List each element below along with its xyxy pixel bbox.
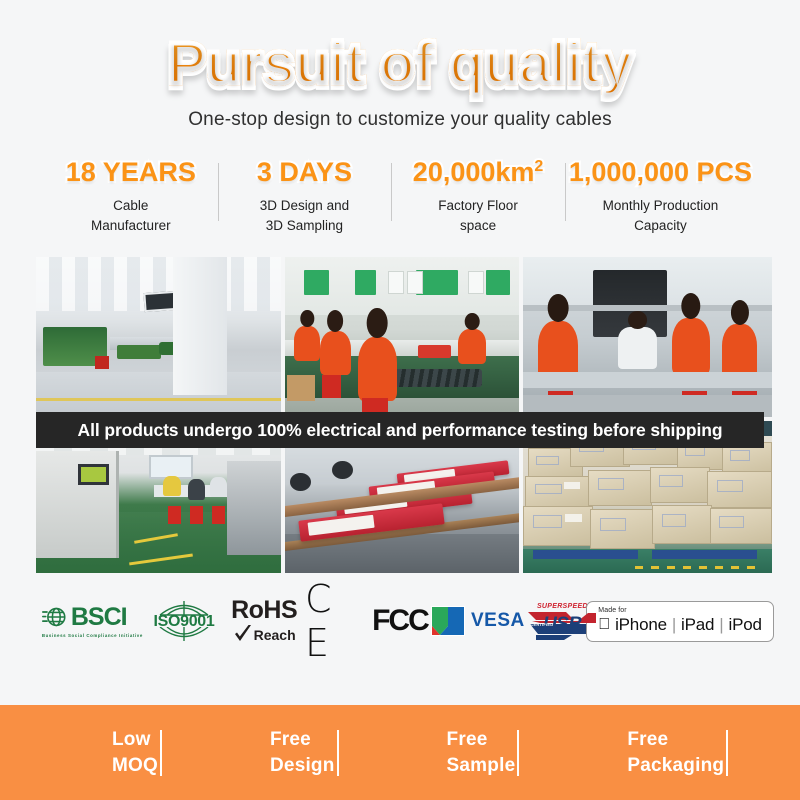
carton-marking — [536, 456, 558, 466]
bsci-logo: BSCI Business Social Compliance Initiati… — [42, 604, 143, 638]
worker-figure — [188, 479, 205, 500]
stat-label: 3D Design and 3D Sampling — [222, 196, 388, 235]
usb-superspeed-label: SUPERSPEED — [537, 603, 588, 610]
infographic-page: Pursuit of quality Pursuit of quality On… — [0, 0, 800, 800]
stat-label: Factory Floor space — [395, 196, 561, 235]
notice-paper — [468, 271, 484, 293]
mfi-badge: Made for  iPhone | iPad | iPod — [586, 601, 773, 642]
carton-shape — [650, 467, 710, 503]
cert-made-for-apple: Made for  iPhone | iPad | iPod — [600, 593, 760, 649]
floor-stripe — [36, 398, 281, 401]
carton-marking — [730, 450, 750, 461]
service-label-line2: Design — [270, 753, 335, 779]
stat-label: Monthly Production Capacity — [569, 196, 752, 235]
worker-figure-white — [618, 327, 658, 369]
title-wrap: Pursuit of quality Pursuit of quality — [168, 34, 633, 95]
cert-rohs: RoHS Reach — [223, 593, 305, 649]
machine-knob — [290, 473, 311, 491]
plant-shape-2 — [159, 342, 188, 355]
mfi-separator: | — [672, 615, 676, 635]
cert-fcc: FCC — [369, 593, 431, 649]
floor-shape — [36, 372, 281, 417]
iso-logo: ISO9001 — [153, 599, 214, 643]
fcc-label: FCC — [372, 604, 428, 638]
vesa-mark-icon — [431, 606, 465, 636]
stat-label-line2: space — [395, 216, 561, 236]
worker-figure — [672, 318, 709, 376]
globe-icon — [42, 604, 68, 630]
stat-label-line1: Factory Floor — [395, 196, 561, 216]
worker-figure — [294, 326, 320, 361]
bsci-subtext: Business Social Compliance Initiative — [42, 633, 143, 638]
carton-shape — [525, 476, 590, 509]
stool-shape — [168, 506, 180, 524]
worker-head — [301, 310, 314, 327]
checkmark-icon — [233, 625, 253, 644]
cert-ce: C E — [305, 593, 369, 649]
worker-figure — [358, 337, 398, 401]
box-label — [307, 515, 375, 536]
carton-shape — [590, 509, 655, 549]
testing-banner-text: All products undergo 100% electrical and… — [78, 420, 723, 441]
cert-vesa: VESA — [431, 593, 525, 649]
reach-row: Reach — [233, 625, 296, 644]
service-label: Free Sample — [447, 727, 516, 778]
stat-value-number: 20,000km — [413, 157, 535, 187]
carton-shape — [652, 505, 712, 545]
photo-art — [285, 257, 519, 417]
stool-shape — [322, 375, 341, 397]
service-label: Low MOQ — [112, 727, 158, 778]
usb-certified-label: CERTIFIED — [530, 623, 553, 627]
extinguisher-shape — [95, 356, 110, 369]
green-board — [486, 270, 509, 296]
mfi-made-for-label: Made for — [598, 607, 626, 614]
green-board — [304, 270, 330, 296]
vesa-logo: VESA — [431, 606, 525, 636]
carton-marking — [598, 478, 624, 490]
cable-bundle-shape — [393, 369, 482, 387]
service-label-line1: Free — [270, 727, 335, 753]
carton-marking — [659, 475, 683, 487]
carton-marking — [533, 515, 561, 528]
carton-label — [565, 514, 583, 522]
stat-label: Cable Manufacturer — [48, 196, 214, 235]
cert-iso9001: ISO9001 — [145, 593, 224, 649]
stat-value: 3 DAYS — [222, 157, 388, 188]
service-label-line1: Free — [447, 727, 516, 753]
bsci-top-row: BSCI — [42, 604, 127, 630]
stat-value-superscript: 2 — [534, 158, 543, 175]
service-label-line2: Packaging — [627, 753, 724, 779]
rohs-logo: RoHS Reach — [231, 598, 297, 644]
machine-knob — [332, 461, 353, 479]
page-title: Pursuit of quality — [168, 34, 633, 95]
service-label-line2: Sample — [447, 753, 516, 779]
reach-label: Reach — [254, 628, 296, 642]
photo-art — [523, 257, 772, 417]
worker-figure — [163, 476, 180, 496]
pallet-shape — [533, 550, 638, 559]
bench-shape — [523, 372, 772, 388]
notice-paper — [407, 271, 423, 293]
service-item-free-sample: Free Sample — [335, 727, 516, 778]
service-label: Free Packaging — [627, 727, 724, 778]
ce-label: C E — [305, 577, 369, 665]
machine-screen — [78, 464, 110, 485]
worker-figure — [210, 477, 227, 497]
carton-shape — [710, 508, 772, 544]
stat-label-line2: Manufacturer — [48, 216, 214, 236]
mfi-product-ipad: iPad — [681, 615, 714, 635]
apple-logo-icon:  — [598, 617, 610, 633]
carton-shape — [707, 471, 772, 507]
floor-hazard-stripe — [635, 566, 755, 569]
notice-paper — [388, 271, 404, 293]
carton-marking — [535, 484, 561, 495]
testing-banner: All products undergo 100% electrical and… — [36, 412, 764, 448]
photo-testing-station — [523, 257, 772, 417]
stat-label-line2: Capacity — [569, 216, 752, 236]
carton-marking — [717, 480, 743, 492]
photo-gallery: All products undergo 100% electrical and… — [36, 257, 764, 573]
bsci-label: BSCI — [71, 605, 127, 630]
carton-shape — [588, 470, 653, 506]
service-label: Free Design — [270, 727, 335, 778]
stat-value: 20,000km2 — [395, 157, 561, 188]
worker-head — [547, 294, 568, 322]
smt-machine-shape-2 — [227, 461, 281, 555]
mfi-separator: | — [719, 615, 723, 635]
service-item-free-packaging: Free Packaging — [515, 727, 724, 778]
photo-art — [36, 257, 281, 417]
service-label-line2: MOQ — [112, 753, 158, 779]
service-item-free-delivery: Free Delivery — [724, 727, 800, 778]
stat-label-line1: 3D Design and — [222, 196, 388, 216]
photo-factory-floor-overview — [36, 257, 281, 417]
worker-head — [367, 308, 388, 339]
stat-years: 18 YEARS Cable Manufacturer — [44, 157, 218, 235]
stat-floor-space: 20,000km2 Factory Floor space — [391, 157, 565, 235]
stool-shape — [212, 506, 224, 524]
stat-value: 18 YEARS — [48, 157, 214, 188]
carton-label — [564, 482, 580, 489]
stat-label-line2: 3D Sampling — [222, 216, 388, 236]
stat-label-line1: Monthly Production — [569, 196, 752, 216]
plant-shape — [117, 345, 161, 359]
header: Pursuit of quality Pursuit of quality On… — [0, 0, 800, 131]
stats-row: 18 YEARS Cable Manufacturer 3 DAYS 3D De… — [0, 157, 800, 235]
mfi-product-ipod: iPod — [729, 615, 762, 635]
rohs-label: RoHS — [231, 598, 297, 623]
pallet-shape — [652, 550, 757, 559]
stat-value: 1,000,000 PCS — [569, 157, 752, 188]
carton-marking — [662, 514, 686, 527]
worker-figure — [320, 331, 350, 376]
stat-capacity: 1,000,000 PCS Monthly Production Capacit… — [565, 157, 756, 235]
monitor-shape — [143, 291, 176, 312]
worker-head — [465, 313, 480, 330]
worker-figure — [458, 329, 486, 364]
carton-shape — [287, 375, 315, 401]
stat-days: 3 DAYS 3D Design and 3D Sampling — [218, 157, 392, 235]
worker-figure — [722, 324, 757, 378]
carton-shape — [523, 506, 593, 546]
carton-marking — [719, 516, 744, 528]
mfi-products-row:  iPhone | iPad | iPod — [598, 615, 761, 635]
usb-badge: USB CERTIFIED — [526, 610, 598, 640]
certifications-row: BSCI Business Social Compliance Initiati… — [40, 589, 760, 653]
green-board — [355, 270, 376, 296]
photo-assembly-workers — [285, 257, 519, 417]
service-item-free-design: Free Design — [158, 727, 335, 778]
vesa-label: VESA — [471, 610, 525, 632]
worker-head — [681, 293, 700, 319]
page-subtitle: One-stop design to customize your qualit… — [0, 109, 800, 131]
globe-bottom-icon — [157, 627, 211, 643]
services-bar: Low MOQ Free Design Free Sample Free Pac… — [0, 705, 800, 800]
stat-label-line1: Cable — [48, 196, 214, 216]
worker-head — [327, 310, 343, 332]
mfi-product-iphone: iPhone — [615, 615, 667, 635]
stool-shape — [190, 506, 202, 524]
worker-head — [731, 300, 749, 325]
service-label-line1: Free — [627, 727, 724, 753]
service-label-line1: Low — [112, 727, 158, 753]
red-tray-shape — [418, 345, 451, 358]
cert-bsci: BSCI Business Social Compliance Initiati… — [40, 593, 145, 649]
carton-marking — [600, 518, 626, 531]
service-item-low-moq: Low MOQ — [0, 727, 158, 778]
worker-head — [628, 311, 648, 329]
